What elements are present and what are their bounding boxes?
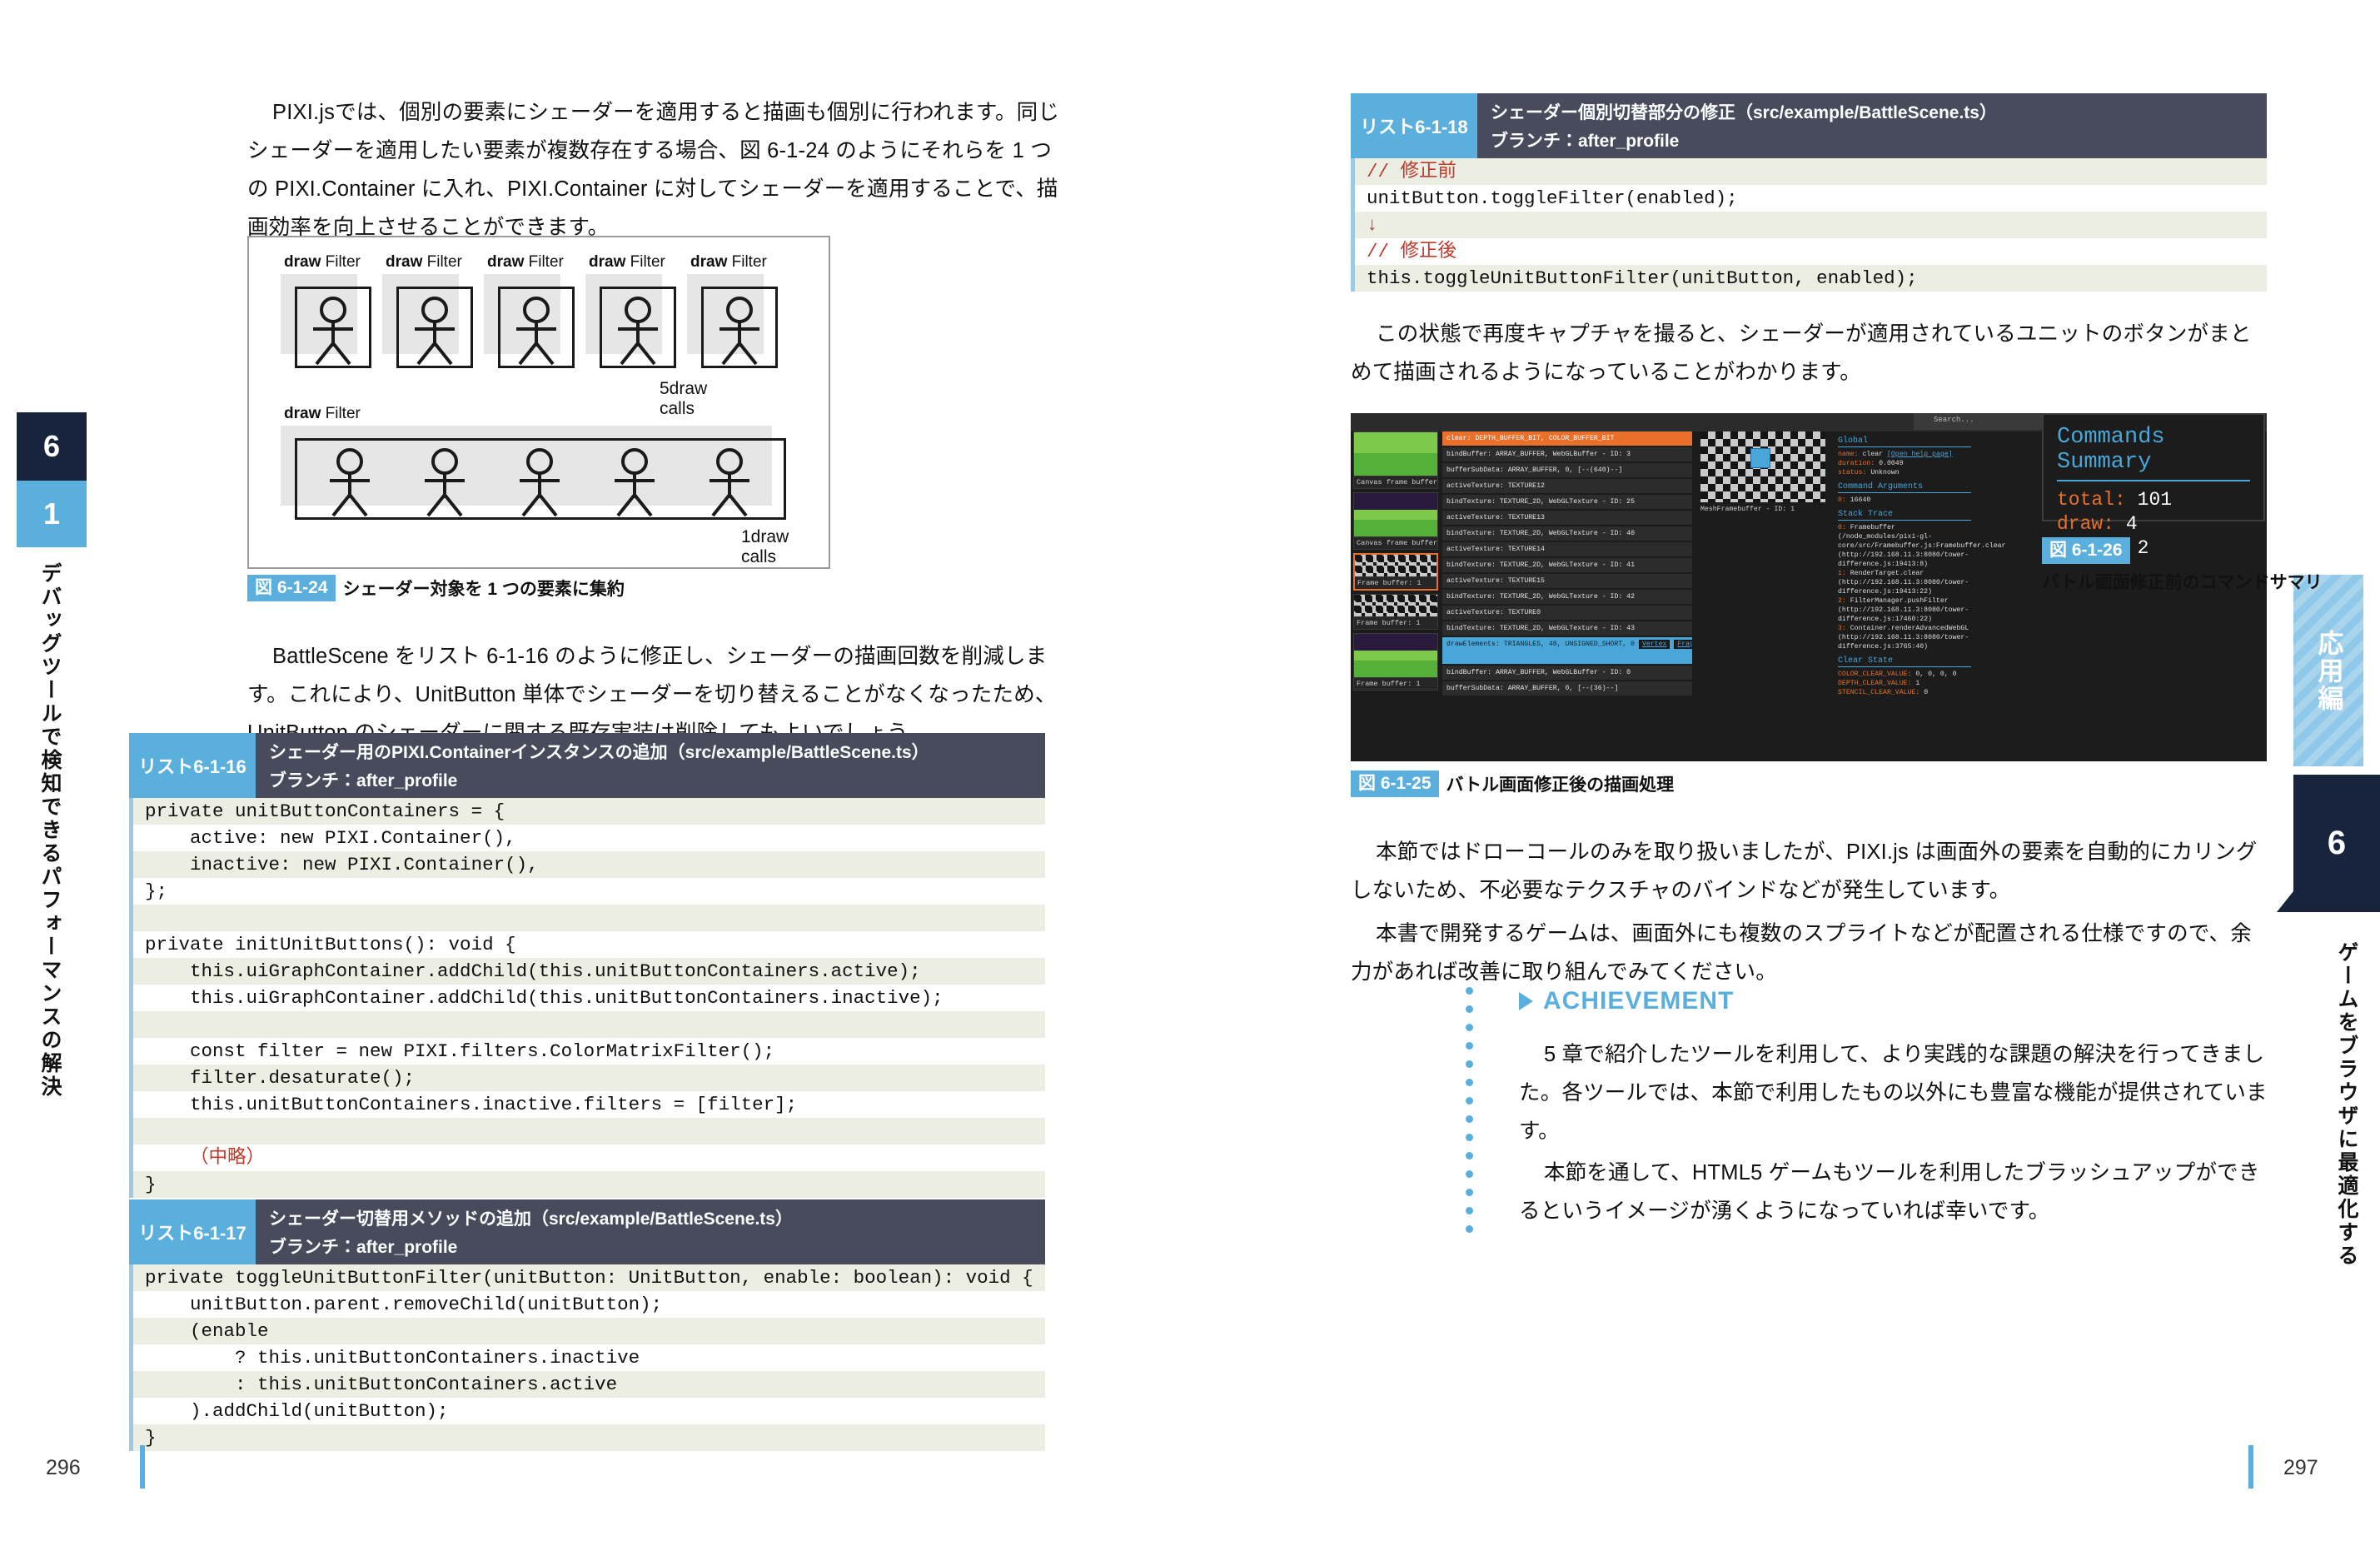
code-line: } — [133, 1424, 1045, 1451]
code-line: }; — [133, 878, 1045, 905]
figure-6-1-26-caption: 図 6-1-26 バトル画面修正前のコマンドサマリ — [2042, 537, 2323, 594]
stick-figure-icon — [311, 438, 388, 520]
devtools-thumbnail[interactable]: Frame buffer: 1 — [1353, 594, 1438, 630]
stick-figure-icon — [501, 438, 578, 520]
devtools-command-row[interactable]: bindBuffer: ARRAY_BUFFER, WebGLBuffer - … — [1442, 666, 1692, 680]
thumbnail-image — [1354, 595, 1437, 616]
info-section-heading: Global — [1838, 436, 1971, 447]
info-value: 16640 — [1846, 496, 1870, 504]
stick-figure-icon — [600, 287, 676, 368]
right-tab-chapter-number: 6 — [2328, 825, 2346, 862]
stick-figure-icon — [406, 438, 483, 520]
code-line: ↓ — [1355, 212, 2267, 238]
left-tab-notch — [70, 526, 87, 547]
info-key: COLOR_CLEAR_VALUE: — [1838, 671, 1911, 678]
figure-caption-text: バトル画面修正後の描画処理 — [1446, 771, 1675, 796]
devtools-command-row[interactable]: activeTexture: TEXTURE14 — [1442, 542, 1692, 556]
right-tab-part: 応用編 — [2293, 575, 2363, 766]
figure-caption-text: シェーダー対象を 1 つの要素に集約 — [343, 576, 625, 601]
code-line: ).addChild(unitButton); — [133, 1398, 1045, 1424]
decorative-dot — [1466, 1079, 1473, 1086]
code-line — [133, 905, 1045, 931]
devtools-command-row[interactable]: bindTexture: TEXTURE_2D, WebGLTexture - … — [1442, 526, 1692, 541]
listing-6-1-18-header: リスト6-1-18 シェーダー個別切替部分の修正（src/example/Bat… — [1351, 93, 2267, 158]
info-section-heading: Command Arguments — [1838, 482, 1971, 493]
devtools-search-placeholder: Search... — [1934, 416, 1974, 424]
thumbnail-image — [1354, 493, 1437, 536]
right-tab-part-label: 応用編 — [2310, 630, 2348, 712]
draw-filter-rest: Filter — [727, 253, 767, 271]
figure-caption-text: バトル画面修正前のコマンドサマリ — [2042, 569, 2323, 594]
achievement-heading-label: ACHIEVEMENT — [1543, 987, 1734, 1015]
devtools-preview-panel: MeshFramebuffer - ID: 1 — [1700, 431, 1825, 513]
devtools-thumbnail[interactable]: Canvas frame buffer — [1353, 492, 1438, 550]
info-key: STENCIL_CLEAR_VALUE: — [1838, 689, 1919, 696]
info-row: status: Unknown — [1838, 468, 1971, 477]
right-tab-notch — [2277, 891, 2293, 912]
info-key: 2: — [1838, 597, 1846, 605]
decorative-dot — [1466, 1005, 1473, 1013]
draw-filter-label: draw Filter — [690, 253, 767, 272]
figure-caption-badge: 図 6-1-25 — [1351, 770, 1439, 797]
draw-filter-rest: Filter — [625, 253, 665, 271]
listing-title-block: シェーダー個別切替部分の修正（src/example/BattleScene.t… — [1477, 93, 2267, 158]
info-section-heading: Stack Trace — [1838, 510, 1971, 521]
listing-title-block: シェーダー用のPIXI.Containerインスタンスの追加（src/examp… — [256, 733, 1045, 798]
listing-6-1-16-code: private unitButtonContainers = { active:… — [129, 798, 1045, 1198]
devtools-command-row[interactable]: clear: DEPTH_BUFFER_BIT, COLOR_BUFFER_BI… — [1442, 431, 1692, 446]
commands-summary-panel: Commands Summary total: 101 draw: 4 clea… — [2042, 413, 2265, 521]
devtools-command-row[interactable]: activeTexture: TEXTURE12 — [1442, 479, 1692, 493]
listing-title-block: シェーダー切替用メソッドの追加（src/example/BattleScene.… — [256, 1199, 1045, 1264]
code-line: （中略） — [133, 1145, 1045, 1171]
stick-figure-icon — [295, 287, 371, 368]
draw-filter-bold: draw — [284, 405, 321, 422]
bottom-draw-filter-label: draw Filter — [284, 405, 361, 423]
figure-caption-badge: 図 6-1-24 — [247, 575, 336, 601]
info-key: duration: — [1838, 460, 1875, 467]
info-row: name: clear [Open help page] — [1838, 450, 1971, 459]
info-value: clear — [1859, 451, 1887, 458]
achievement-paragraph-2: 本節を通して、HTML5 ゲームもツールを利用したブラッシュアップができるという… — [1519, 1154, 2268, 1230]
right-paragraph-1: この状態で再度キャプチャを撮ると、シェーダーが適用されているユニットのボタンがま… — [1351, 315, 2267, 391]
code-line: unitButton.toggleFilter(enabled); — [1355, 185, 2267, 212]
listing-6-1-17-header: リスト6-1-17 シェーダー切替用メソッドの追加（src/example/Ba… — [129, 1199, 1045, 1264]
devtools-command-row[interactable]: activeTexture: TEXTURE0 — [1442, 606, 1692, 620]
devtools-command-row[interactable]: drawElements: TRIANGLES, 48, UNSIGNED_SH… — [1442, 637, 1692, 664]
code-line — [133, 1011, 1045, 1038]
info-value: RenderTarget.clear (http://192.168.11.3:… — [1838, 570, 1969, 596]
devtools-command-row[interactable]: bindTexture: TEXTURE_2D, WebGLTexture - … — [1442, 495, 1692, 509]
code-line: this.unitButtonContainers.inactive.filte… — [133, 1091, 1045, 1118]
listing-number: リスト6-1-18 — [1351, 93, 1477, 158]
code-line: // 修正後 — [1355, 238, 2267, 265]
listing-number: リスト6-1-16 — [129, 733, 256, 798]
info-row: 0: 16640 — [1838, 496, 1971, 505]
left-paragraph-2-text: BattleScene をリスト 6-1-16 のように修正し、シェーダーの描画… — [247, 645, 1057, 745]
thumbnail-image — [1354, 634, 1437, 677]
code-line: ? this.unitButtonContainers.inactive — [133, 1344, 1045, 1371]
shader-link[interactable]: Vertex — [1639, 640, 1670, 649]
devtools-command-row[interactable]: bindTexture: TEXTURE_2D, WebGLTexture - … — [1442, 590, 1692, 604]
right-page-number: 297 — [2283, 1456, 2318, 1480]
code-line: this.toggleUnitButtonFilter(unitButton, … — [1355, 265, 2267, 292]
thumbnail-image — [1354, 432, 1437, 476]
info-row: 1: RenderTarget.clear (http://192.168.11… — [1838, 569, 1971, 596]
devtools-info-panel: Globalname: clear [Open help page]durati… — [1838, 431, 1971, 697]
info-key: status: — [1838, 469, 1866, 476]
summary-row: draw: 4 — [2057, 512, 2250, 536]
achievement-paragraph-2-text: 本節を通して、HTML5 ゲームもツールを利用したブラッシュアップができるという… — [1519, 1161, 2260, 1223]
code-line: const filter = new PIXI.filters.ColorMat… — [133, 1038, 1045, 1065]
draw-filter-rest: Filter — [422, 253, 462, 271]
info-key: DEPTH_CLEAR_VALUE: — [1838, 680, 1911, 687]
decorative-dot — [1466, 1097, 1473, 1105]
decorative-dot — [1466, 1042, 1473, 1050]
listing-title: シェーダー切替用メソッドの追加（src/example/BattleScene.… — [269, 1205, 1032, 1230]
preview-highlight — [1750, 448, 1770, 468]
code-line: private unitButtonContainers = { — [133, 798, 1045, 825]
figure-6-1-24-caption: 図 6-1-24 シェーダー対象を 1 つの要素に集約 — [247, 575, 625, 601]
triangle-icon — [1519, 992, 1533, 1010]
achievement-dot-rail — [1466, 987, 1474, 1244]
code-line: this.uiGraphContainer.addChild(this.unit… — [133, 958, 1045, 985]
draw-filter-rest: Filter — [321, 405, 361, 422]
decorative-dot — [1466, 1024, 1473, 1031]
code-line: inactive: new PIXI.Container(), — [133, 851, 1045, 878]
info-value: 1 — [1911, 680, 1919, 687]
figure-caption-badge: 図 6-1-26 — [2042, 537, 2130, 564]
listing-branch: ブランチ：after_profile — [1491, 127, 2253, 152]
thumbnail-image — [1355, 555, 1436, 576]
info-value: Unknown — [1866, 469, 1899, 476]
listing-branch: ブランチ：after_profile — [269, 1234, 1032, 1259]
thumbnail-label: Frame buffer: 1 — [1354, 616, 1437, 629]
left-tab-section-number: 1 — [43, 496, 60, 531]
info-row: duration: 0.0049 — [1838, 459, 1971, 468]
achievement-heading: ACHIEVEMENT — [1519, 987, 2267, 1015]
preview-checkerboard — [1700, 431, 1825, 502]
info-key: 0: — [1838, 496, 1846, 504]
stick-figure-icon — [396, 287, 473, 368]
decorative-dot — [1466, 1060, 1473, 1068]
devtools-command-row[interactable]: bindTexture: TEXTURE_2D, WebGLTexture - … — [1442, 621, 1692, 636]
devtools-command-row[interactable]: bindBuffer: ARRAY_BUFFER, WebGLBuffer - … — [1442, 447, 1692, 461]
draw-filter-label: draw Filter — [487, 253, 564, 272]
right-tab-title: ゲームをブラウザに最適化する — [2323, 941, 2357, 1268]
left-tab-chapter-number: 6 — [43, 429, 60, 464]
achievement-paragraph-1-text: 5 章で紹介したツールを利用して、より実践的な課題の解決を行ってきました。各ツー… — [1519, 1043, 2268, 1143]
code-line: unitButton.parent.removeChild(unitButton… — [133, 1291, 1045, 1318]
devtools-command-row[interactable]: bindTexture: TEXTURE_2D, WebGLTexture - … — [1442, 558, 1692, 572]
listing-title: シェーダー用のPIXI.Containerインスタンスの追加（src/examp… — [269, 739, 1032, 764]
right-footer-rule — [2248, 1445, 2253, 1489]
code-line: // 修正前 — [1355, 158, 2267, 185]
info-value: Framebuffer (/node_modules/pixi-gl-core/… — [1838, 524, 2005, 568]
stick-figure-icon — [596, 438, 673, 520]
draw-filter-rest: Filter — [524, 253, 564, 271]
listing-6-1-16-header: リスト6-1-16 シェーダー用のPIXI.Containerインスタンスの追加… — [129, 733, 1045, 798]
code-line: private toggleUnitButtonFilter(unitButto… — [133, 1264, 1045, 1291]
left-tab-title: デバッグツールで検知できるパフォーマンスの解決 — [27, 562, 60, 1099]
code-line: active: new PIXI.Container(), — [133, 825, 1045, 851]
summary-row: total: 101 — [2057, 488, 2250, 512]
summary-value: 101 — [2138, 489, 2172, 511]
info-key: name: — [1838, 451, 1859, 458]
devtools-command-row[interactable]: bufferSubData: ARRAY_BUFFER, 0, [--(36)-… — [1442, 681, 1692, 696]
devtools-thumbnail[interactable]: Frame buffer: 1 — [1353, 553, 1438, 591]
devtools-command-row[interactable]: activeTexture: TEXTURE15 — [1442, 574, 1692, 588]
shader-link[interactable]: Fragment — [1674, 640, 1692, 649]
decorative-dot — [1466, 1152, 1473, 1159]
achievement-paragraph-1: 5 章で紹介したツールを利用して、より実践的な課題の解決を行ってきました。各ツー… — [1519, 1035, 2268, 1150]
listing-title: シェーダー個別切替部分の修正（src/example/BattleScene.t… — [1491, 99, 2253, 124]
draw-filter-bold: draw — [690, 253, 727, 271]
code-line: this.uiGraphContainer.addChild(this.unit… — [133, 985, 1045, 1011]
left-intro-text: PIXI.jsでは、個別の要素にシェーダーを適用すると描画も個別に行われます。同… — [247, 101, 1059, 239]
info-row: 0: Framebuffer (/node_modules/pixi-gl-co… — [1838, 523, 1971, 569]
info-value: 0, 0, 0, 0 — [1911, 671, 1956, 678]
thumbnail-label: Canvas frame buffer — [1354, 536, 1437, 549]
info-value: 0 — [1919, 689, 1928, 696]
right-tab-chapter: 6 — [2293, 775, 2380, 912]
decorative-dot — [1466, 987, 1473, 995]
devtools-command-row[interactable]: activeTexture: TEXTURE13 — [1442, 511, 1692, 525]
draw-filter-label: draw Filter — [386, 253, 462, 272]
right-paragraph-3: 本書で開発するゲームは、画面外にも複数のスプライトなどが配置される仕様ですので、… — [1351, 915, 2267, 991]
info-row: DEPTH_CLEAR_VALUE: 1 — [1838, 679, 1971, 688]
summary-key: draw: — [2057, 513, 2114, 535]
summary-value: 4 — [2126, 513, 2138, 535]
thumbnail-label: Frame buffer: 1 — [1355, 576, 1436, 589]
decorative-dot — [1466, 1134, 1473, 1141]
top-draw-calls-label: 5draw calls — [660, 379, 707, 419]
right-paragraph-2-text: 本節ではドローコールのみを取り扱いましたが、PIXI.js は画面外の要素を自動… — [1351, 840, 2257, 902]
thumbnail-label: Frame buffer: 1 — [1354, 677, 1437, 690]
stick-figure-icon — [701, 287, 778, 368]
devtools-thumbnail-list[interactable]: Canvas frame bufferCanvas frame bufferFr… — [1353, 431, 1438, 694]
code-line — [133, 1118, 1045, 1145]
stick-figure-icon — [691, 438, 768, 520]
info-key: 0: — [1838, 524, 1846, 531]
commands-summary-title: Commands Summary — [2057, 425, 2250, 481]
right-paragraph-2: 本節ではドローコールのみを取り扱いましたが、PIXI.js は画面外の要素を自動… — [1351, 833, 2267, 910]
draw-filter-bold: draw — [487, 253, 524, 271]
achievement-block: ACHIEVEMENT 5 章で紹介したツールを利用して、より実践的な課題の解決… — [1466, 987, 2267, 1230]
devtools-thumbnail[interactable]: Frame buffer: 1 — [1353, 633, 1438, 691]
info-row: STENCIL_CLEAR_VALUE: 0 — [1838, 688, 1971, 697]
thumbnail-label: Canvas frame buffer — [1354, 476, 1437, 488]
info-key: 3: — [1838, 625, 1846, 632]
right-paragraph-1-text: この状態で再度キャプチャを撮ると、シェーダーが適用されているユニットのボタンがま… — [1351, 322, 2252, 384]
code-line: private initUnitButtons(): void { — [133, 931, 1045, 958]
draw-filter-bold: draw — [386, 253, 422, 271]
figure-6-1-25-caption: 図 6-1-25 バトル画面修正後の描画処理 — [1351, 770, 1674, 797]
listing-number: リスト6-1-17 — [129, 1199, 256, 1264]
info-link[interactable]: [Open help page] — [1887, 451, 1953, 458]
code-line: (enable — [133, 1318, 1045, 1344]
decorative-dot — [1466, 1115, 1473, 1123]
devtools-command-list[interactable]: clear: DEPTH_BUFFER_BIT, COLOR_BUFFER_BI… — [1442, 431, 1692, 697]
left-footer-rule — [140, 1445, 145, 1489]
devtools-thumbnail[interactable]: Canvas frame buffer — [1353, 431, 1438, 489]
stick-figure-icon — [498, 287, 575, 368]
right-paragraph-3-text: 本書で開発するゲームは、画面外にも複数のスプライトなどが配置される仕様ですので、… — [1351, 922, 2252, 984]
left-intro-paragraph: PIXI.jsでは、個別の要素にシェーダーを適用すると描画も個別に行われます。同… — [247, 93, 1063, 247]
listing-6-1-17-code: private toggleUnitButtonFilter(unitButto… — [129, 1264, 1045, 1451]
decorative-dot — [1466, 1207, 1473, 1214]
decorative-dot — [1466, 1170, 1473, 1178]
book-spread: 6 1 デバッグツールで検知できるパフォーマンスの解決 PIXI.jsでは、個別… — [0, 0, 2380, 1541]
info-value: 0.0049 — [1875, 460, 1903, 467]
draw-filter-bold: draw — [284, 253, 321, 271]
info-row: COLOR_CLEAR_VALUE: 0, 0, 0, 0 — [1838, 670, 1971, 679]
draw-filter-label: draw Filter — [284, 253, 361, 272]
info-value: FilterManager.pushFilter (http://192.168… — [1838, 597, 1969, 623]
summary-key: total: — [2057, 489, 2126, 511]
draw-filter-rest: Filter — [321, 253, 361, 271]
left-tab-chapter: 6 — [17, 412, 87, 481]
code-line: } — [133, 1171, 1045, 1198]
info-row: 2: FilterManager.pushFilter (http://192.… — [1838, 596, 1971, 624]
decorative-dot — [1466, 1189, 1473, 1196]
preview-label: MeshFramebuffer - ID: 1 — [1700, 506, 1825, 513]
draw-filter-bold: draw — [589, 253, 625, 271]
code-line: : this.unitButtonContainers.active — [133, 1371, 1045, 1398]
listing-branch: ブランチ：after_profile — [269, 767, 1032, 792]
info-row: 3: Container.renderAdvancedWebGL (http:/… — [1838, 624, 1971, 651]
bottom-draw-calls-label: 1draw calls — [741, 527, 789, 567]
draw-filter-label: draw Filter — [589, 253, 665, 272]
info-value: Container.renderAdvancedWebGL (http://19… — [1838, 625, 1969, 651]
devtools-command-row[interactable]: bufferSubData: ARRAY_BUFFER, 0, [--(640)… — [1442, 463, 1692, 477]
info-section-heading: Clear State — [1838, 656, 1971, 667]
code-line: filter.desaturate(); — [133, 1065, 1045, 1091]
decorative-dot — [1466, 1225, 1473, 1233]
listing-6-1-18-code: // 修正前unitButton.toggleFilter(enabled);↓… — [1351, 158, 2267, 292]
left-page-number: 296 — [46, 1456, 81, 1480]
info-key: 1: — [1838, 570, 1846, 577]
